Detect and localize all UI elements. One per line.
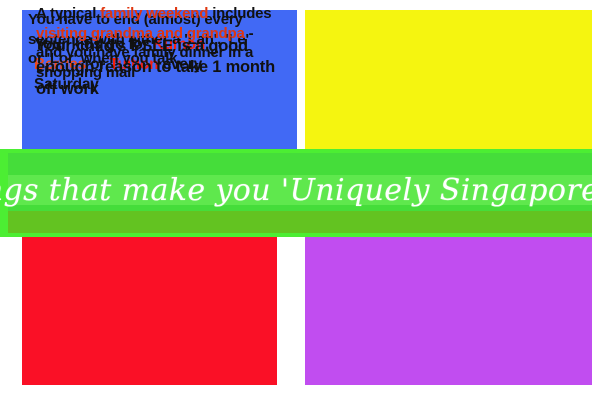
title-banner: Things that make you 'Uniquely Singapore… [0, 149, 592, 237]
panel-text-bottom-right: A typical family weekend includes visiti… [36, 4, 278, 82]
infographic-canvas: Your kids go for Kumon, Berries or Tuiti… [0, 0, 600, 400]
text-run-2: includes [208, 5, 271, 22]
text-run-0: A typical [36, 5, 100, 22]
panel-top-right [305, 10, 592, 158]
text-run-1: family weekend [100, 5, 208, 22]
text-run-3: visiting grandma and grandpa [36, 25, 245, 42]
panel-bottom-right [305, 232, 592, 385]
banner-title-text: Things that make you 'Uniquely Singapore… [0, 146, 592, 234]
panel-bottom-left [22, 232, 277, 385]
